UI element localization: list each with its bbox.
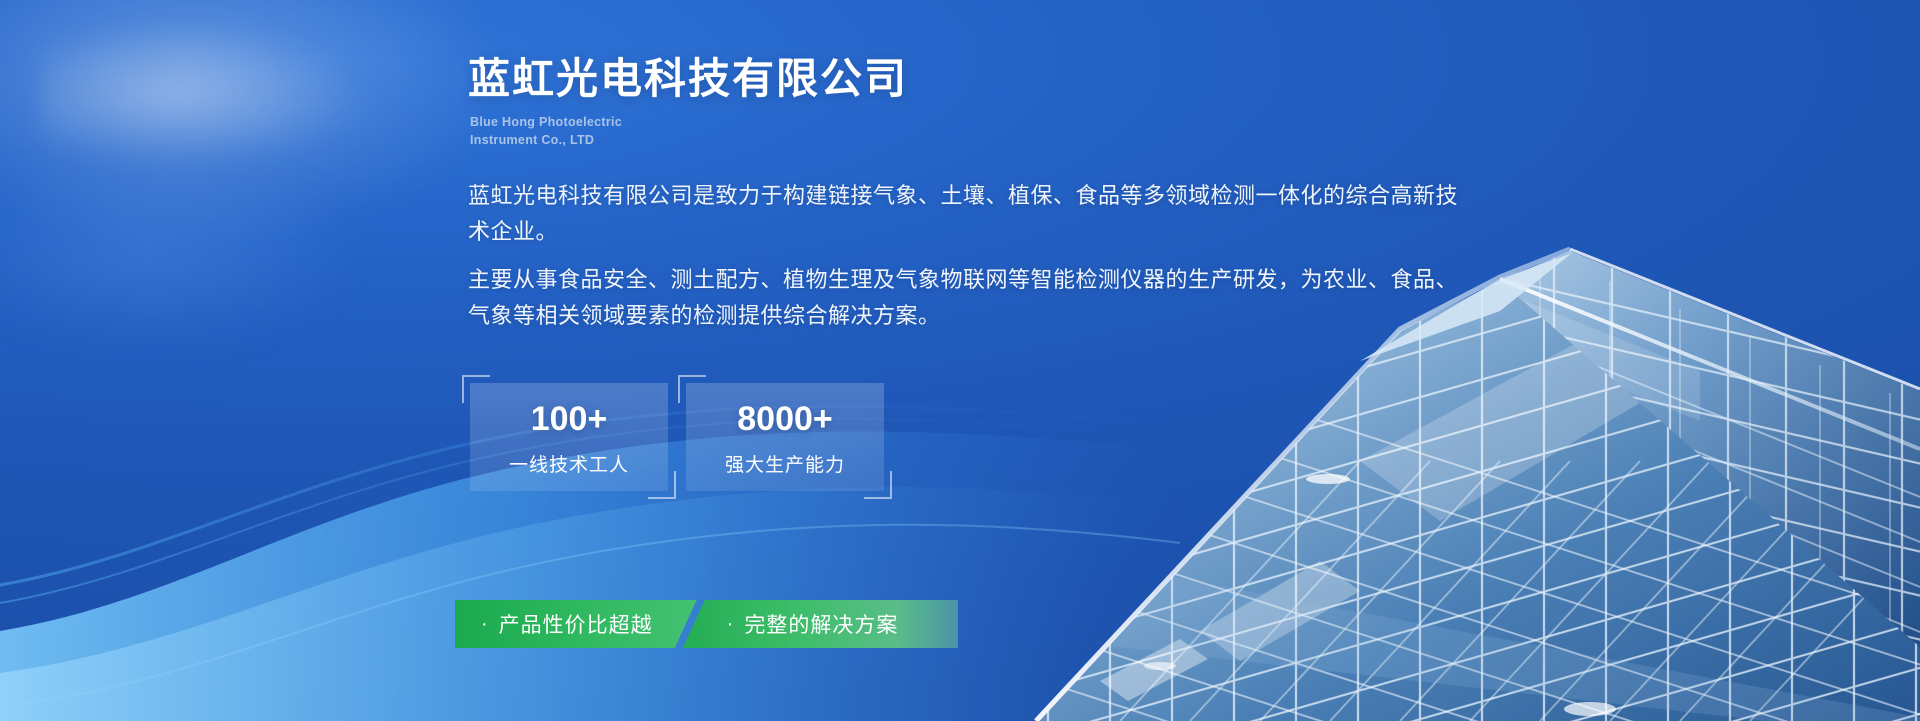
description-paragraph-1: 蓝虹光电科技有限公司是致力于构建链接气象、土壤、植保、食品等多领域检测一体化的综… bbox=[468, 178, 1458, 250]
bullet-dot-icon: · bbox=[481, 614, 489, 634]
stat-label: 强大生产能力 bbox=[725, 450, 845, 477]
feature-badge-price[interactable]: · 产品性价比超越 bbox=[455, 600, 697, 648]
page-title: 蓝虹光电科技有限公司 bbox=[468, 45, 908, 106]
feature-badges: · 产品性价比超越 · 完整的解决方案 bbox=[455, 600, 958, 648]
feature-badge-solution[interactable]: · 完整的解决方案 bbox=[683, 600, 959, 648]
bullet-dot-icon: · bbox=[727, 614, 735, 634]
hero-banner: 蓝虹光电科技有限公司 Blue Hong Photoelectric Instr… bbox=[0, 0, 1920, 721]
stat-label: 一线技术工人 bbox=[509, 450, 629, 477]
description-paragraph-2: 主要从事食品安全、测土配方、植物生理及气象物联网等智能检测仪器的生产研发，为农业… bbox=[468, 262, 1458, 334]
stat-value: 100+ bbox=[531, 402, 608, 436]
feature-badge-label: 完整的解决方案 bbox=[744, 609, 898, 639]
stat-value: 8000+ bbox=[737, 402, 833, 436]
stats-group: 100+ 一线技术工人 8000+ 强大生产能力 bbox=[470, 383, 884, 491]
english-subtitle: Blue Hong Photoelectric Instrument Co., … bbox=[470, 113, 622, 149]
feature-badge-label: 产品性价比超越 bbox=[499, 609, 653, 639]
banner-content: 蓝虹光电科技有限公司 Blue Hong Photoelectric Instr… bbox=[0, 0, 1920, 721]
english-subtitle-line-2: Instrument Co., LTD bbox=[470, 131, 622, 149]
english-subtitle-line-1: Blue Hong Photoelectric bbox=[470, 113, 622, 131]
stat-card: 100+ 一线技术工人 bbox=[470, 383, 668, 491]
stat-card: 8000+ 强大生产能力 bbox=[686, 383, 884, 491]
